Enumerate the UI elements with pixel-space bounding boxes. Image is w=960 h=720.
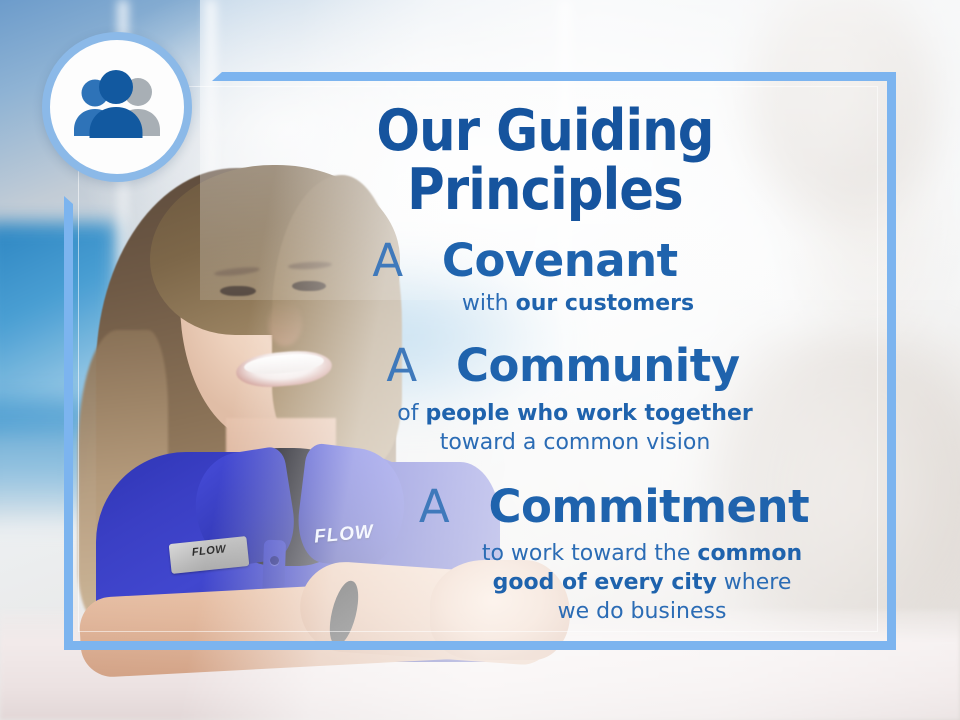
frame-border-left (64, 196, 73, 650)
principle-keyword: Community (456, 339, 740, 392)
content-block: Our Guiding Principles A Covenant with o… (200, 80, 890, 627)
principle-community: A Community of people who work togethert… (200, 342, 890, 457)
poster-canvas: FLOW FLOW Our Guiding Princ (0, 0, 960, 720)
principle-subtitle: to work toward the commongood of every c… (200, 539, 890, 626)
principle-keyword: Covenant (442, 234, 678, 287)
page-title: Our Guiding Principles (235, 102, 856, 221)
principle-headline: A Covenant (200, 237, 890, 286)
principle-commitment: A Commitment to work toward the commongo… (200, 483, 890, 627)
principle-keyword: Commitment (488, 480, 809, 533)
principle-subtitle: with our customers (200, 289, 890, 318)
people-group-badge (42, 32, 192, 182)
principle-article: A (372, 234, 427, 287)
principle-headline: A Commitment (200, 483, 890, 532)
frame-border-bottom (64, 641, 896, 650)
principle-subtitle: of people who work togethertoward a comm… (200, 399, 890, 457)
principle-covenant: A Covenant with our customers (200, 237, 890, 319)
principle-headline: A Community (200, 342, 890, 391)
people-group-icon (69, 70, 165, 144)
principle-article: A (419, 480, 474, 533)
showroom-display-left-lower (0, 400, 90, 520)
principle-article: A (386, 339, 441, 392)
